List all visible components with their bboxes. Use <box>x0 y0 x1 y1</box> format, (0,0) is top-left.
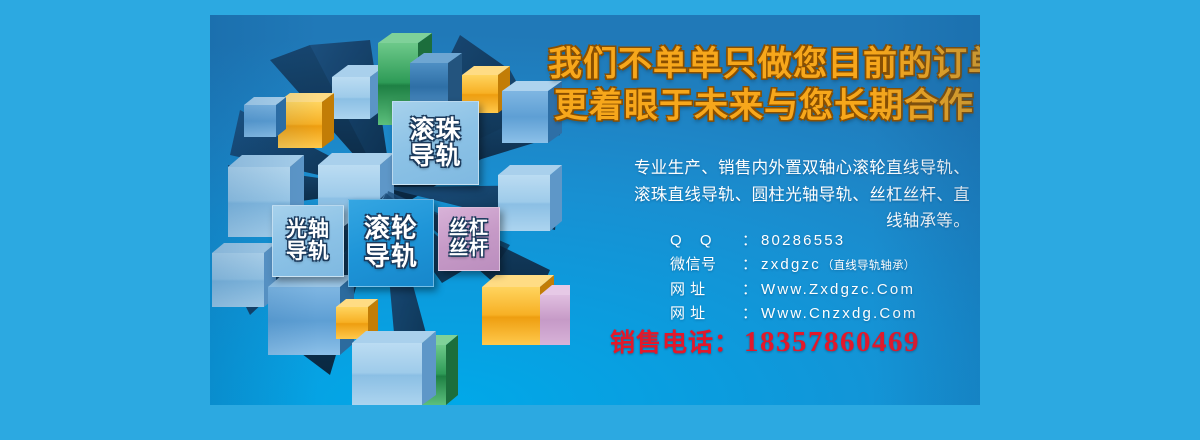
contact-colon: ： <box>742 282 757 297</box>
sales-phone-label: 销售电话： <box>610 323 740 359</box>
description: 专业生产、销售内外置双轴心滚轮直线导轨、 滚珠直线导轨、圆柱光轴导轨、丝杠丝杆、… <box>558 155 970 235</box>
contact-label: 网 址 <box>670 282 742 297</box>
product-chip-gunzhu-daogui: 滚珠 导轨 <box>392 101 479 185</box>
contact-label: 微信号 <box>670 257 742 272</box>
chip-line-1: 丝杠 <box>449 219 489 239</box>
contact-value-website-2[interactable]: Www.Cnzxdg.Com <box>761 306 918 321</box>
contact-row-website-1: 网 址 ： Www.Zxdgzc.Com <box>670 282 980 297</box>
chip-line-1: 滚轮 <box>364 215 418 243</box>
contact-value-website-1[interactable]: Www.Zxdgzc.Com <box>761 282 915 297</box>
banner-text-content: 我们不单单只做您目前的订单 更着眼于未来与您长期合作 专业生产、销售内外置双轴心… <box>548 15 980 405</box>
promo-banner: 滚珠 导轨 光轴 导轨 滚轮 导轨 丝杠 丝杆 我们不单单只做您目前的订单 更着… <box>210 15 980 405</box>
contact-row-wechat: 微信号 ： zxdgzc （直线导轨轴承） <box>670 257 980 273</box>
contact-colon: ： <box>742 306 757 321</box>
banner-page: 滚珠 导轨 光轴 导轨 滚轮 导轨 丝杠 丝杆 我们不单单只做您目前的订单 更着… <box>0 0 1200 440</box>
product-chip-gunlun-daogui: 滚轮 导轨 <box>348 199 434 287</box>
contact-note-wechat: （直线导轨轴承） <box>822 261 916 273</box>
headline-line-2: 更着眼于未来与您长期合作 <box>548 85 980 127</box>
contact-label: Q Q <box>670 233 742 248</box>
headline: 我们不单单只做您目前的订单 更着眼于未来与您长期合作 <box>548 43 980 127</box>
chip-line-1: 光轴 <box>286 219 330 241</box>
contact-colon: ： <box>742 257 757 272</box>
sales-phone: 销售电话： 18357860469 <box>550 323 980 359</box>
contact-label: 网 址 <box>670 306 742 321</box>
product-chip-guangzhou-daogui: 光轴 导轨 <box>272 205 344 277</box>
chip-line-2: 导轨 <box>286 241 330 263</box>
contact-value-wechat: zxdgzc <box>761 257 821 272</box>
product-chip-sigang-sigan: 丝杠 丝杆 <box>438 207 500 271</box>
description-line-1: 专业生产、销售内外置双轴心滚轮直线导轨、 <box>558 155 970 182</box>
sales-phone-number: 18357860469 <box>744 326 920 359</box>
contact-row-qq: Q Q ： 80286553 <box>670 233 980 248</box>
contact-colon: ： <box>742 233 757 248</box>
contact-value-qq: 80286553 <box>761 233 845 248</box>
description-line-2: 滚珠直线导轨、圆柱光轴导轨、丝杠丝杆、直 <box>558 182 970 209</box>
contact-row-website-2: 网 址 ： Www.Cnzxdg.Com <box>670 306 980 321</box>
chip-line-2: 导轨 <box>409 143 461 170</box>
contact-block: Q Q ： 80286553 微信号 ： zxdgzc （直线导轨轴承） 网 址… <box>670 233 980 330</box>
chip-line-2: 丝杆 <box>449 239 489 259</box>
headline-line-1: 我们不单单只做您目前的订单 <box>548 43 980 85</box>
chip-line-1: 滚珠 <box>409 117 461 144</box>
chip-line-2: 导轨 <box>364 243 418 271</box>
